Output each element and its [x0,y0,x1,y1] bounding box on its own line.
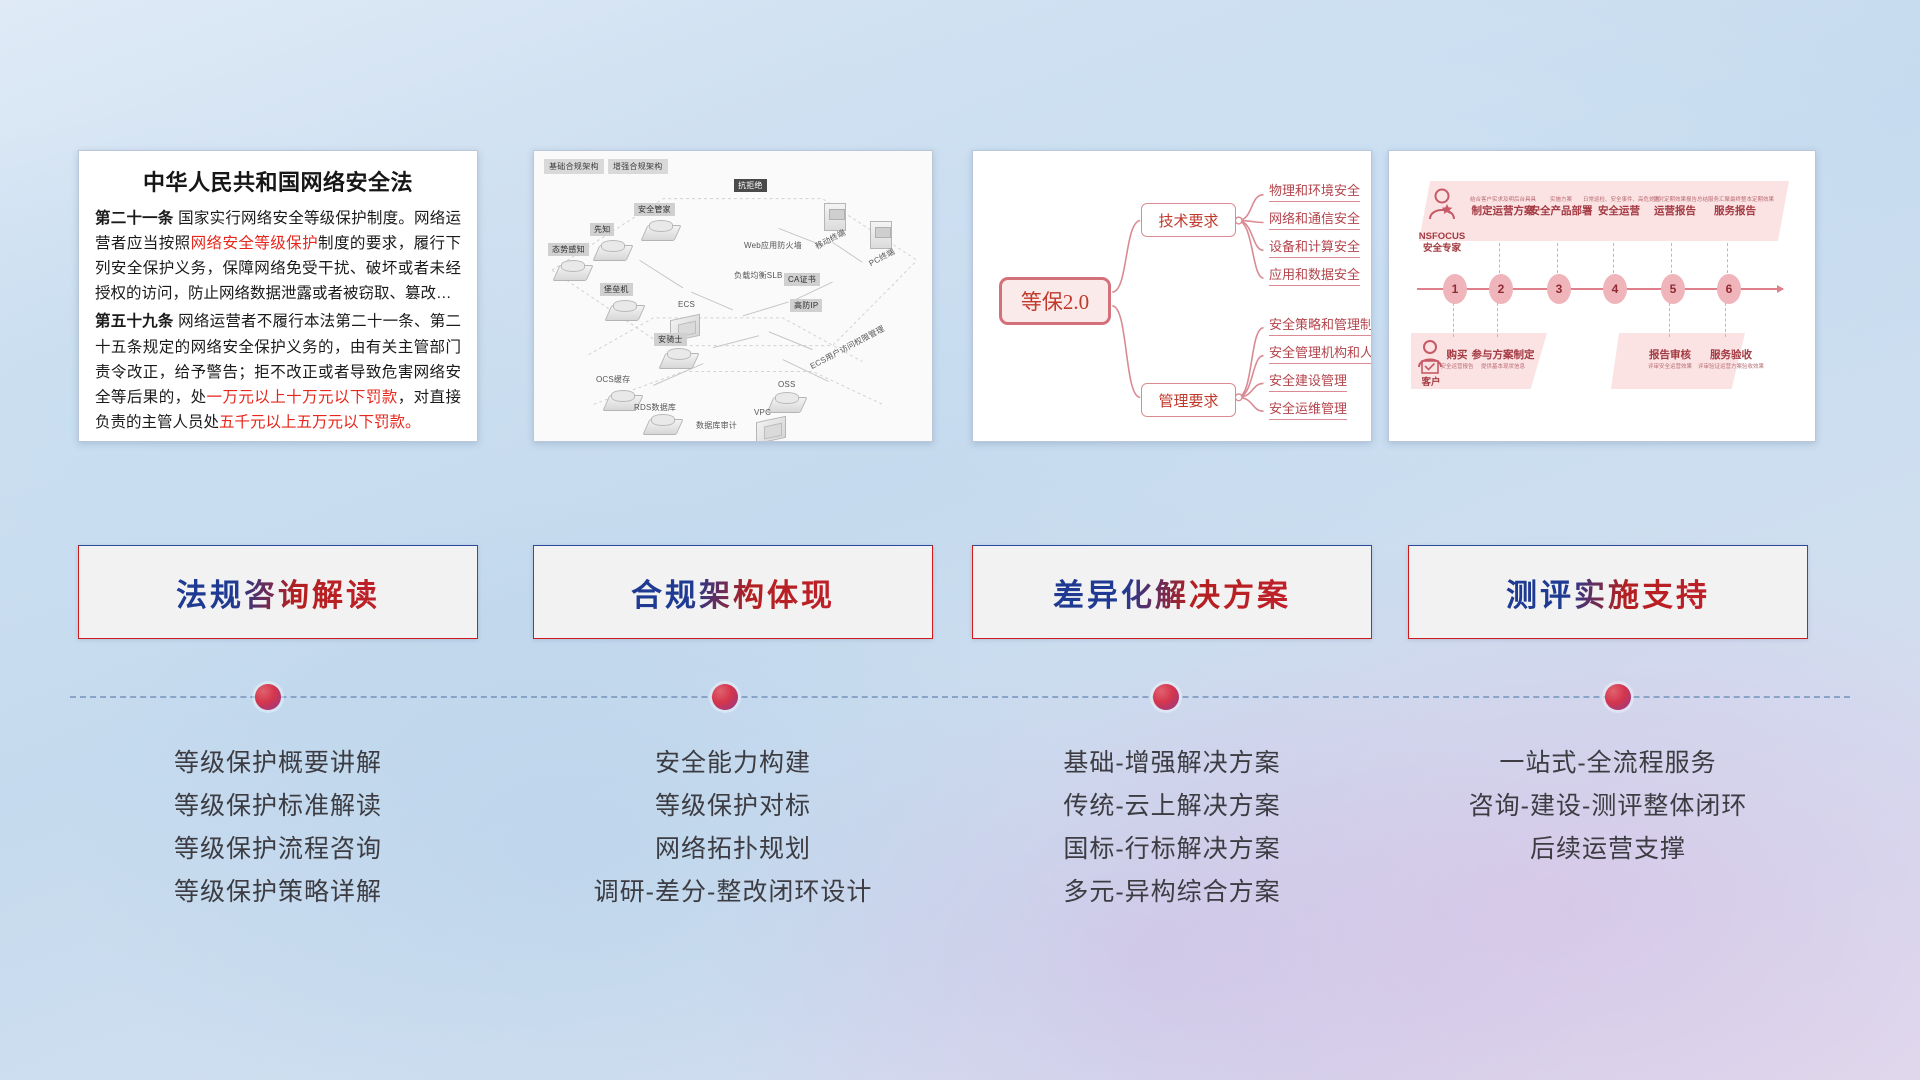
timeline-bottom-step-2: 参与方案制定 提供基本现状信息 [1465,347,1541,370]
node-label-situation-awareness: 态势感知 [548,243,589,256]
list-item: 调研-差分-整改闭环设计 [533,871,933,914]
timeline-top-step-5-sub: 总结服务汇聚最终整本定期效果 [1697,195,1773,203]
detail-list-2: 安全能力构建 等级保护对标 网络拓扑规划 调研-差分-整改闭环设计 [533,742,933,914]
list-item: 传统-云上解决方案 [972,785,1372,828]
category-title-row: 法规咨询解读 合规架构体现 差异化解决方案 测评实施支持 [0,545,1920,643]
topology-canvas: 基础合规架构 增强合规架构 态势感知 [534,151,932,441]
node-label-anqishi: 安骑士 [654,333,687,346]
timeline-dashed-line [70,696,1850,698]
list-item: 后续运营支撑 [1408,828,1808,871]
timeline-bottom-step-3-sub: 评审安全运营效果 [1637,362,1703,370]
article-59-highlight-2: 五千元以上五万元以下罚款。 [219,414,421,431]
mindmap-branch-technical[interactable]: 技术要求 [1141,203,1236,237]
mindmap-root-node[interactable]: 等保2.0 [999,277,1111,325]
category-title-3: 差异化解决方案 [1053,570,1291,615]
timeline-node-1[interactable] [255,684,281,710]
law-article-59: 第五十九条 网络运营者不履行本法第二十一条、第二十五条规定的网络安全保护义务的，… [95,309,461,435]
list-item: 一站式-全流程服务 [1408,742,1808,785]
timeline-bottom-step-4-sub: 评审验证运营方案验收效果 [1695,362,1767,370]
timeline-bottom-step-4-title: 服务验收 [1695,347,1767,362]
card-law-document[interactable]: 中华人民共和国网络安全法 第二十一条 国家实行网络安全等级保护制度。网络运营者应… [78,150,478,442]
node-label-rds: RDS数据库 [630,401,680,414]
timeline-bottom-step-4: 服务验收 评审验证运营方案验收效果 [1695,347,1767,370]
article-59-number: 第五十九条 [95,313,174,330]
card-network-topology[interactable]: 基础合规架构 增强合规架构 态势感知 [533,150,933,442]
timeline-marker-4[interactable]: 4 [1603,274,1627,304]
node-label-slb: 负载均衡SLB [730,269,787,282]
mindmap-leaf-mgmt-3: 安全建设管理 [1269,373,1347,392]
category-title-1: 法规咨询解读 [176,570,380,615]
mindmap-branch-management[interactable]: 管理要求 [1141,383,1236,417]
category-title-4: 测评实施支持 [1506,570,1710,615]
timeline-canvas: NSFOCUS安全专家 客户 1 2 3 4 5 6 [1389,151,1815,441]
node-label-vpc: VPC [750,407,775,418]
node-label-waf: Web应用防火墙 [740,239,806,252]
list-item: 咨询-建设-测评整体闭环 [1408,785,1808,828]
timeline-node-3[interactable] [1153,684,1179,710]
node-label-ocs-cache: OCS缓存 [592,373,634,386]
detail-list-4: 一站式-全流程服务 咨询-建设-测评整体闭环 后续运营支撑 [1408,742,1808,871]
node-label-oss: OSS [774,379,800,390]
timeline-customer-label: 客户 [1411,377,1451,389]
article-59-highlight-1: 一万元以上十万元以下罚款 [207,389,398,406]
timeline-top-step-5-title: 服务报告 [1697,203,1773,218]
timeline-bottom-step-3: 报告审核 评审安全运营效果 [1637,347,1703,370]
category-title-box-4[interactable]: 测评实施支持 [1408,545,1808,639]
node-label-ca-cert: CA证书 [784,273,820,286]
mindmap-canvas: 等保2.0 技术要求 物理和环境安全 网络和通信安全 设备和计算安全 应用和数据… [973,151,1371,441]
list-item: 等级保护流程咨询 [78,828,478,871]
article-21-number: 第二十一条 [95,210,174,227]
category-title-2: 合规架构体现 [631,570,835,615]
timeline-node-2[interactable] [712,684,738,710]
mindmap-leaf-tech-3: 设备和计算安全 [1269,239,1360,258]
node-label-anti-ddos: 抗拒绝 [734,179,767,192]
list-item: 国标-行标解决方案 [972,828,1372,871]
list-item: 等级保护标准解读 [78,785,478,828]
node-label-xianzhi: 先知 [590,223,614,236]
timeline-provider-label: NSFOCUS安全专家 [1413,231,1471,255]
timeline-marker-3[interactable]: 3 [1547,274,1571,304]
timeline-node-4[interactable] [1605,684,1631,710]
mindmap-leaf-mgmt-2: 安全管理机构和人员 [1269,345,1372,364]
topology-connector-lines [534,151,932,441]
node-label-bastion-host: 堡垒机 [600,283,633,296]
list-item: 等级保护策略详解 [78,871,478,914]
mindmap-leaf-mgmt-1: 安全策略和管理制度 [1269,317,1372,336]
node-label-db-audit: 数据库审计 [692,419,741,432]
mindmap-leaf-tech-1: 物理和环境安全 [1269,183,1360,202]
list-item: 网络拓扑规划 [533,828,933,871]
mindmap-leaf-mgmt-4: 安全运维管理 [1269,401,1347,420]
law-title: 中华人民共和国网络安全法 [95,165,461,197]
preview-cards-row: 中华人民共和国网络安全法 第二十一条 国家实行网络安全等级保护制度。网络运营者应… [0,150,1920,442]
detail-list-3: 基础-增强解决方案 传统-云上解决方案 国标-行标解决方案 多元-异构综合方案 [972,742,1372,914]
timeline-marker-6[interactable]: 6 [1717,274,1741,304]
node-label-ecs: ECS [674,299,699,310]
timeline-bottom-step-2-sub: 提供基本现状信息 [1465,362,1541,370]
security-expert-icon [1425,187,1459,233]
timeline-marker-1[interactable]: 1 [1443,274,1467,304]
timeline-marker-2[interactable]: 2 [1489,274,1513,304]
detail-list-1: 等级保护概要讲解 等级保护标准解读 等级保护流程咨询 等级保护策略详解 [78,742,478,914]
timeline-strip [0,660,1920,740]
card-mindmap[interactable]: 等保2.0 技术要求 物理和环境安全 网络和通信安全 设备和计算安全 应用和数据… [972,150,1372,442]
node-label-security-butler: 安全管家 [634,203,675,216]
timeline-bottom-step-2-title: 参与方案制定 [1465,347,1541,362]
mindmap-leaf-tech-2: 网络和通信安全 [1269,211,1360,230]
article-21-highlight: 网络安全等级保护 [191,235,318,252]
timeline-top-step-5: 总结服务汇聚最终整本定期效果 服务报告 [1697,195,1773,218]
timeline-bottom-step-3-title: 报告审核 [1637,347,1703,362]
law-article-21: 第二十一条 国家实行网络安全等级保护制度。网络运营者应当按照网络安全等级保护制度… [95,206,461,306]
card-service-timeline[interactable]: NSFOCUS安全专家 客户 1 2 3 4 5 6 [1388,150,1816,442]
node-label-anti-ddos-ip: 高防IP [790,299,822,312]
timeline-marker-5[interactable]: 5 [1661,274,1685,304]
list-item: 基础-增强解决方案 [972,742,1372,785]
mindmap-leaf-tech-4: 应用和数据安全 [1269,267,1360,286]
list-item: 等级保护对标 [533,785,933,828]
category-title-box-2[interactable]: 合规架构体现 [533,545,933,639]
category-title-box-1[interactable]: 法规咨询解读 [78,545,478,639]
detail-lists-row: 等级保护概要讲解 等级保护标准解读 等级保护流程咨询 等级保护策略详解 安全能力… [0,742,1920,962]
list-item: 安全能力构建 [533,742,933,785]
category-title-box-3[interactable]: 差异化解决方案 [972,545,1372,639]
list-item: 等级保护概要讲解 [78,742,478,785]
list-item: 多元-异构综合方案 [972,871,1372,914]
